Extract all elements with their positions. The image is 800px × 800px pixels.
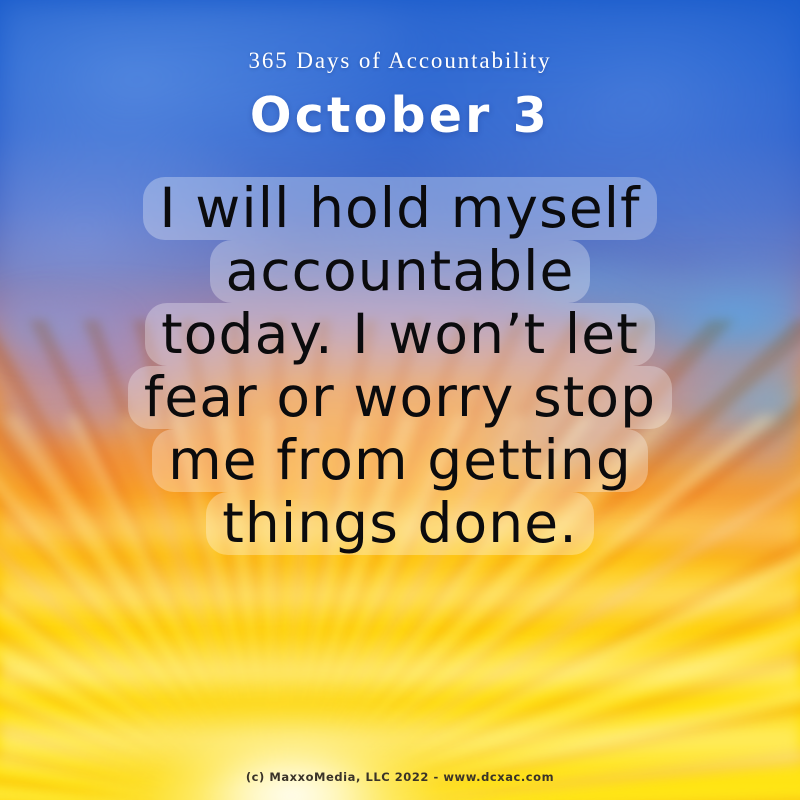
quote-block: I will hold myself accountable today. I … [0, 177, 800, 555]
quote-line: I will hold myself [143, 177, 656, 240]
series-title: 365 Days of Accountability [249, 48, 552, 74]
card-content: 365 Days of Accountability October 3 I w… [0, 0, 800, 800]
quote-line: accountable [210, 240, 591, 303]
quote-line: things done. [206, 492, 594, 555]
quote-line: fear or worry stop [128, 366, 672, 429]
quote-card: 365 Days of Accountability October 3 I w… [0, 0, 800, 800]
copyright-footer: (c) MaxxoMedia, LLC 2022 - www.dcxac.com [0, 770, 800, 784]
quote-line: me from getting [152, 429, 648, 492]
day-title: October 3 [250, 87, 550, 144]
quote-line: today. I won’t let [145, 303, 655, 366]
